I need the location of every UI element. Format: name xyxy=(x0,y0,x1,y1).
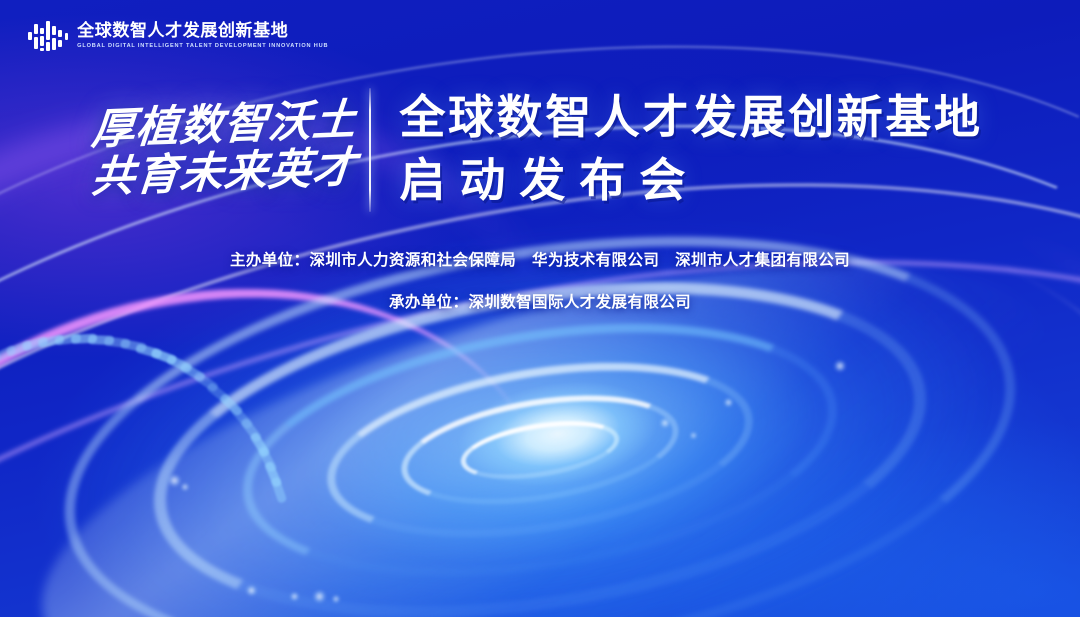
vortex-disc xyxy=(0,176,1080,617)
vertical-divider xyxy=(369,88,371,212)
hero-section: 厚植数智沃土 共育未来英才 全球数智人才发展创新基地 启动发布会 xyxy=(0,88,1080,212)
arc-tick xyxy=(229,404,253,429)
bokeh-dot xyxy=(246,585,257,596)
organizers-block: 主办单位：深圳市人力资源和社会保障局 华为技术有限公司 深圳市人才集团有限公司 … xyxy=(0,248,1080,312)
calligraphy-line-2: 共育未来英才 xyxy=(90,146,359,203)
host-organizations-line: 主办单位：深圳市人力资源和社会保障局 华为技术有限公司 深圳市人才集团有限公司 xyxy=(230,248,850,270)
arc-tick xyxy=(240,417,263,443)
vortex-ring-3 xyxy=(225,286,855,615)
vortex-ring-6 xyxy=(457,412,623,489)
arc-tick xyxy=(71,334,97,344)
arc-tick xyxy=(218,392,243,416)
brand-name-cn: 全球数智人才发展创新基地 xyxy=(77,22,328,41)
arc-tick xyxy=(165,355,192,374)
bokeh-dot xyxy=(332,595,340,603)
bokeh-dot xyxy=(690,432,697,439)
bokeh-dot xyxy=(290,592,299,601)
bokeh-dot xyxy=(313,590,326,603)
bokeh-dot xyxy=(724,398,733,407)
arc-tick xyxy=(257,445,277,472)
vortex-ring-5 xyxy=(394,379,686,523)
vortex-ring-1 xyxy=(34,175,1046,617)
dashed-arc-ticks xyxy=(0,307,331,617)
arc-tick xyxy=(0,350,2,371)
data-bars-icon xyxy=(28,21,68,51)
bokeh-dot xyxy=(181,483,189,491)
brand-logo[interactable]: 全球数智人才发展创新基地 GLOBAL DIGITAL INTELLIGENT … xyxy=(28,21,328,51)
event-banner: 全球数智人才发展创新基地 GLOBAL DIGITAL INTELLIGENT … xyxy=(0,0,1080,617)
bokeh-dot xyxy=(660,418,670,428)
bokeh-dot xyxy=(834,360,846,372)
arc-tick xyxy=(264,461,283,488)
arc-tick xyxy=(179,362,206,383)
arc-tick xyxy=(104,336,131,348)
headline-block: 全球数智人才发展创新基地 启动发布会 xyxy=(399,92,982,208)
bokeh-dot xyxy=(168,474,181,487)
arc-tick xyxy=(249,431,271,458)
headline-line-1: 全球数智人才发展创新基地 xyxy=(399,92,982,144)
spiral-vortex-graphic xyxy=(12,155,1069,617)
brand-name-en: GLOBAL DIGITAL INTELLIGENT TALENT DEVELO… xyxy=(77,43,328,50)
arc-tick xyxy=(150,348,178,365)
arc-tick xyxy=(193,371,220,393)
arc-tick xyxy=(54,333,81,345)
calligraphy-slogan: 厚植数智沃土 共育未来英才 xyxy=(93,98,352,202)
arc-tick xyxy=(119,339,146,353)
vortex-ring-4 xyxy=(315,336,765,564)
arc-tick xyxy=(135,343,162,359)
arc-tick xyxy=(38,334,65,348)
arc-tick xyxy=(21,336,48,352)
arc-tick xyxy=(5,340,32,358)
organizer-line: 承办单位：深圳数智国际人才发展有限公司 xyxy=(389,290,691,312)
headline-line-2: 启动发布会 xyxy=(399,153,982,208)
brand-logo-text: 全球数智人才发展创新基地 GLOBAL DIGITAL INTELLIGENT … xyxy=(77,22,328,51)
arc-tick xyxy=(0,344,17,363)
arc-tick xyxy=(270,476,287,504)
arc-tick xyxy=(87,335,113,345)
arc-tick xyxy=(206,381,232,404)
